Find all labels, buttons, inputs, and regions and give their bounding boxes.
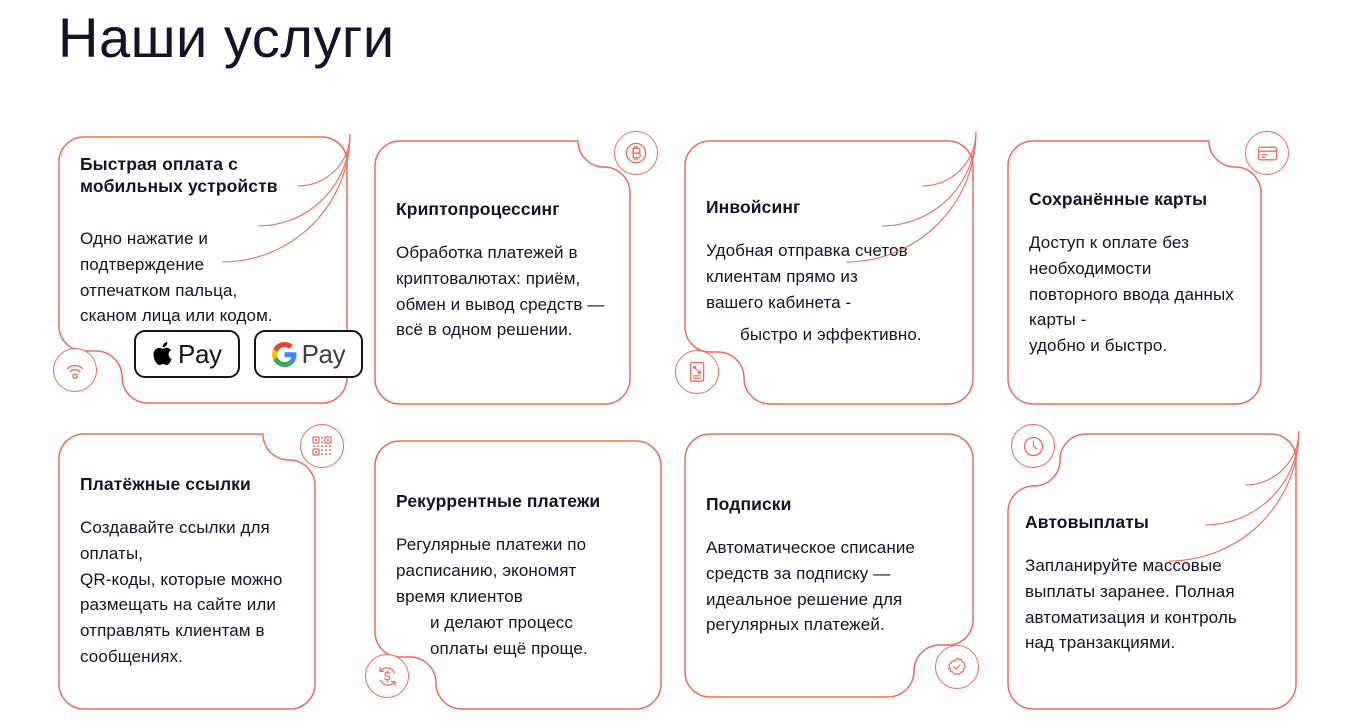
card-description-indented: и делают процесс оплаты ещё проще. bbox=[430, 610, 670, 662]
service-card-auto-payouts[interactable]: Автовыплаты Запланируйте массовые выплат… bbox=[1007, 433, 1297, 710]
google-pay-label: Pay bbox=[302, 341, 346, 367]
apple-pay-label: Pay bbox=[178, 341, 222, 367]
google-pay-button[interactable]: Pay bbox=[254, 330, 364, 378]
card-description: Обработка платежей в криптовалютах: приё… bbox=[396, 240, 658, 343]
card-description: Регулярные платежи по расписанию, эконом… bbox=[396, 532, 658, 609]
card-content: Инвойсинг Удобная отправка счетов клиент… bbox=[684, 140, 974, 405]
clock-icon bbox=[1011, 424, 1055, 468]
card-description: Доступ к оплате без необходимости повтор… bbox=[1029, 230, 1297, 359]
invoice-percent-icon bbox=[675, 350, 719, 394]
card-content: Подписки Автоматическое списание средств… bbox=[684, 433, 974, 710]
service-card-invoicing[interactable]: Инвойсинг Удобная отправка счетов клиент… bbox=[684, 140, 974, 405]
card-description: Одно нажатие и подтверждение отпечатком … bbox=[80, 226, 342, 329]
card-title: Криптопроцессинг bbox=[396, 198, 646, 220]
card-content: Рекуррентные платежи Регулярные платежи … bbox=[374, 440, 662, 710]
card-description-indented: быстро и эффективно. bbox=[740, 322, 990, 348]
page-title: Наши услуги bbox=[58, 4, 395, 71]
card-title: Автовыплаты bbox=[1025, 511, 1275, 533]
card-content: Платёжные ссылки Создавайте ссылки для о… bbox=[58, 433, 348, 710]
service-card-payment-links[interactable]: Платёжные ссылки Создавайте ссылки для о… bbox=[58, 433, 348, 710]
qr-code-icon bbox=[300, 424, 344, 468]
card-description: Удобная отправка счетов клиентам прямо и… bbox=[706, 238, 976, 315]
credit-card-icon bbox=[1245, 131, 1289, 175]
service-card-fast-mobile-payment[interactable]: Быстрая оплата с мобильных устройств Одн… bbox=[58, 136, 348, 404]
card-title: Подписки bbox=[706, 493, 956, 515]
card-title: Инвойсинг bbox=[706, 196, 956, 218]
verified-badge-icon bbox=[935, 645, 979, 689]
service-card-saved-cards[interactable]: Сохранённые карты Доступ к оплате без не… bbox=[1007, 140, 1295, 405]
card-content: Сохранённые карты Доступ к оплате без не… bbox=[1007, 140, 1295, 405]
services-page: Наши услуги Быстрая оплата с мобильных у… bbox=[0, 0, 1353, 728]
card-description: Запланируйте массовые выплаты заранее. П… bbox=[1025, 553, 1297, 656]
service-card-subscriptions[interactable]: Подписки Автоматическое списание средств… bbox=[684, 433, 974, 710]
apple-pay-button[interactable]: Pay bbox=[134, 330, 240, 378]
card-title: Рекуррентные платежи bbox=[396, 490, 651, 512]
card-content: Автовыплаты Запланируйте массовые выплат… bbox=[1007, 433, 1297, 710]
service-card-recurring-payments[interactable]: Рекуррентные платежи Регулярные платежи … bbox=[374, 440, 662, 710]
bitcoin-icon bbox=[614, 131, 658, 175]
service-card-crypto-processing[interactable]: Криптопроцессинг Обработка платежей в кр… bbox=[374, 140, 662, 405]
card-title: Платёжные ссылки bbox=[80, 473, 330, 495]
recurring-dollar-icon bbox=[365, 654, 409, 698]
contactless-wave-icon bbox=[53, 348, 97, 392]
card-title: Быстрая оплата с мобильных устройств bbox=[80, 153, 330, 198]
card-description: Создавайте ссылки для оплаты, QR-коды, к… bbox=[80, 515, 350, 670]
card-content: Криптопроцессинг Обработка платежей в кр… bbox=[374, 140, 662, 405]
card-title: Сохранённые карты bbox=[1029, 188, 1279, 210]
pay-buttons-row: Pay Pay bbox=[134, 330, 363, 378]
card-description: Автоматическое списание средств за подпи… bbox=[706, 535, 978, 638]
